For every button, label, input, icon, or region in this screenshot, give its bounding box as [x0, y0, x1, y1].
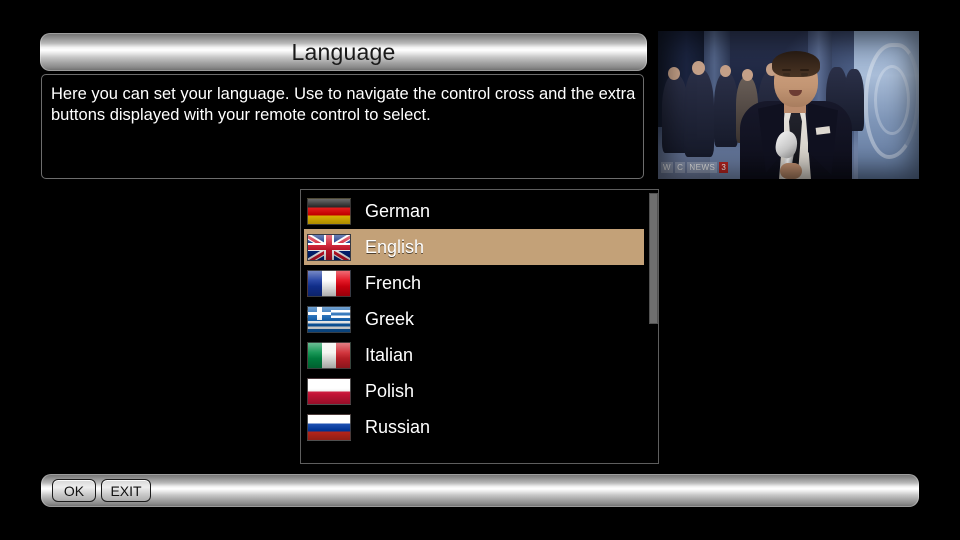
list-item-english[interactable]: English [304, 229, 644, 265]
list-item-russian[interactable]: Russian [304, 409, 644, 445]
exit-button[interactable]: EXIT [101, 479, 151, 502]
reporter-eye-left [783, 73, 790, 76]
flag-russia-icon [307, 414, 351, 441]
language-label: Russian [365, 417, 430, 438]
flag-united-kingdom-icon [307, 234, 351, 261]
list-item-polish[interactable]: Polish [304, 373, 644, 409]
flag-france-icon [307, 270, 351, 297]
language-list: German English French [304, 193, 644, 445]
video-crowd-head [692, 61, 705, 75]
list-scrollbar-track[interactable] [649, 190, 658, 463]
video-crowd-figure [714, 73, 738, 147]
language-label: French [365, 273, 421, 294]
video-preview[interactable]: W C NEWS 3 [658, 31, 919, 179]
flag-germany-icon [307, 198, 351, 225]
flag-italy-icon [307, 342, 351, 369]
reporter-hand [780, 163, 802, 179]
logo-part: NEWS [687, 162, 717, 173]
video-crowd-head [742, 69, 753, 81]
language-label: German [365, 201, 430, 222]
list-item-french[interactable]: French [304, 265, 644, 301]
language-label: Italian [365, 345, 413, 366]
logo-part: W [661, 162, 673, 173]
list-scrollbar-thumb[interactable] [649, 193, 658, 324]
list-item-german[interactable]: German [304, 193, 644, 229]
list-item-italian[interactable]: Italian [304, 337, 644, 373]
reporter-eyebrow-left [782, 69, 791, 71]
ok-button[interactable]: OK [52, 479, 96, 502]
softkey-bar: OK EXIT [41, 474, 919, 507]
video-wall-swirl-inner [874, 65, 910, 135]
reporter-eye-right [801, 73, 808, 76]
news-channel-logo: W C NEWS 3 [661, 161, 735, 174]
language-label: Greek [365, 309, 414, 330]
flag-poland-icon [307, 378, 351, 405]
page-title: Language [40, 33, 647, 71]
description-box: Here you can set your language. Use to n… [41, 74, 644, 179]
language-label: Polish [365, 381, 414, 402]
logo-part: 3 [719, 162, 728, 173]
reporter-eyebrow-right [800, 69, 809, 71]
logo-part: C [675, 162, 685, 173]
reporter-hair [772, 51, 820, 77]
osd-screen: Language Here you can set your language.… [0, 0, 960, 540]
language-list-panel[interactable]: German English French [300, 189, 659, 464]
video-crowd-head [720, 65, 731, 77]
title-bar: Language [40, 33, 647, 71]
video-crowd-head [668, 67, 680, 80]
description-text: Here you can set your language. Use to n… [51, 84, 636, 126]
language-label: English [365, 237, 424, 258]
video-crowd-figure [684, 69, 714, 157]
flag-greece-icon [307, 306, 351, 333]
list-item-greek[interactable]: Greek [304, 301, 644, 337]
